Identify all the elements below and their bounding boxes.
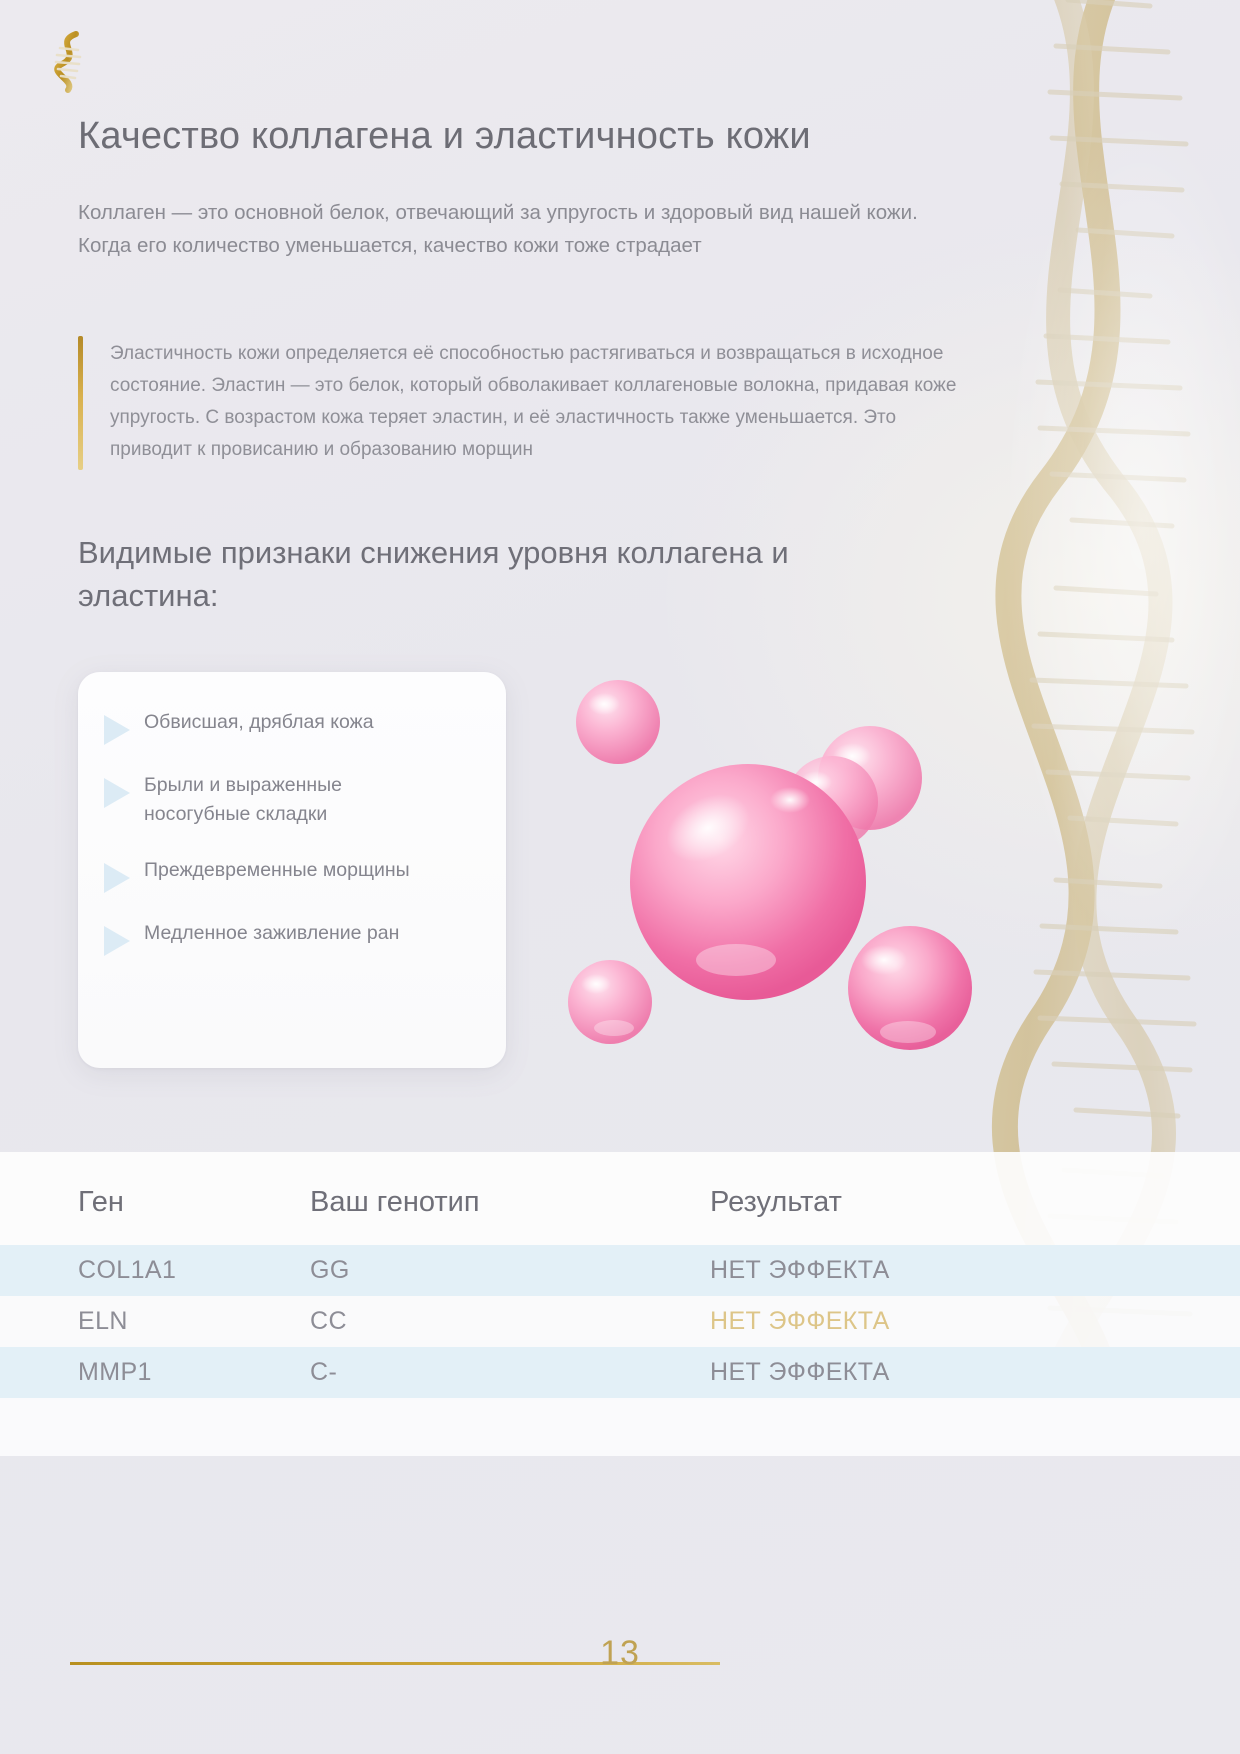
cell-gene: COL1A1 xyxy=(0,1245,310,1296)
list-item: Обвисшая, дряблая кожа xyxy=(104,708,476,745)
cell-result: НЕТ ЭФФЕКТА xyxy=(710,1347,1240,1398)
triangle-bullet-icon xyxy=(104,778,130,808)
table-row: MMP1 C- НЕТ ЭФФЕКТА xyxy=(0,1347,1240,1398)
table-row: COL1A1 GG НЕТ ЭФФЕКТА xyxy=(0,1245,1240,1296)
list-item-label: Медленное заживление ран xyxy=(144,919,399,948)
column-header-result: Результат xyxy=(710,1152,1240,1245)
table-row: ELN CC НЕТ ЭФФЕКТА xyxy=(0,1296,1240,1347)
list-item: Брыли и выраженные носогубные складки xyxy=(104,771,476,830)
cell-result: НЕТ ЭФФЕКТА xyxy=(710,1296,1240,1347)
cell-result: НЕТ ЭФФЕКТА xyxy=(710,1245,1240,1296)
symptoms-card: Обвисшая, дряблая кожа Брыли и выраженны… xyxy=(78,672,506,1068)
lead-paragraph: Коллаген — это основной белок, отвечающи… xyxy=(78,196,968,262)
table-header-row: Ген Ваш генотип Результат xyxy=(0,1152,1240,1245)
table-bottom-spacer xyxy=(0,1398,1240,1456)
page-title: Качество коллагена и эластичность кожи xyxy=(78,112,978,161)
cell-gene: ELN xyxy=(0,1296,310,1347)
list-item-label: Преждевременные морщины xyxy=(144,856,410,885)
callout-quote: Эластичность кожи определяется её способ… xyxy=(78,330,978,474)
list-item-label: Брыли и выраженные носогубные складки xyxy=(144,771,444,830)
list-item-label: Обвисшая, дряблая кожа xyxy=(144,708,374,737)
dna-helix-icon xyxy=(36,24,104,96)
column-header-genotype: Ваш генотип xyxy=(310,1152,710,1245)
list-item: Преждевременные морщины xyxy=(104,856,476,893)
page-number: 13 xyxy=(0,1634,1240,1673)
document-page: Качество коллагена и эластичность кожи К… xyxy=(0,0,1240,1754)
cell-gene: MMP1 xyxy=(0,1347,310,1398)
pink-collagen-bubbles-icon xyxy=(540,660,1060,1090)
triangle-bullet-icon xyxy=(104,863,130,893)
genotype-results-table: Ген Ваш генотип Результат COL1A1 GG НЕТ … xyxy=(0,1152,1240,1456)
cell-genotype: GG xyxy=(310,1245,710,1296)
column-header-gene: Ген xyxy=(0,1152,310,1245)
triangle-bullet-icon xyxy=(104,715,130,745)
cell-genotype: CC xyxy=(310,1296,710,1347)
section-subtitle: Видимые признаки снижения уровня коллаге… xyxy=(78,532,878,618)
list-item: Медленное заживление ран xyxy=(104,919,476,956)
cell-genotype: C- xyxy=(310,1347,710,1398)
triangle-bullet-icon xyxy=(104,926,130,956)
